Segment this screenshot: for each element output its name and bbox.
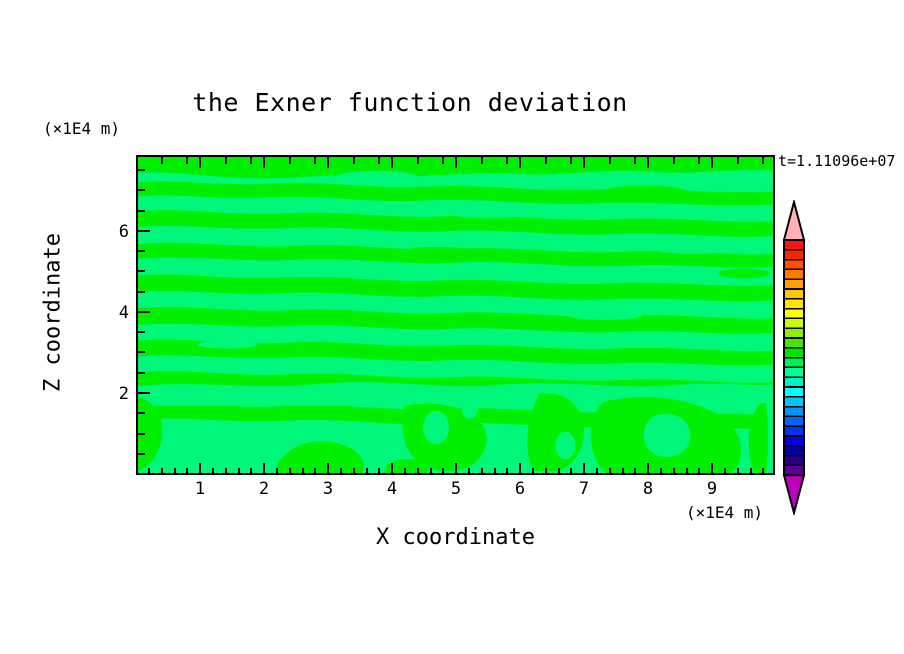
x-axis-minor-tick (238, 468, 240, 475)
y-axis-major-tick (138, 230, 150, 232)
colorbar-gradient (780, 200, 808, 515)
y-axis-minor-tick (138, 189, 145, 191)
y-tick-label: 2 (103, 384, 129, 404)
x-axis-top-minor-tick (289, 157, 291, 164)
x-axis-minor-tick (340, 468, 342, 475)
x-axis-top-major-tick (519, 157, 521, 168)
x-axis-minor-tick (289, 468, 291, 475)
x-tick-label: 4 (377, 479, 407, 499)
x-axis-minor-tick (225, 468, 227, 475)
x-axis-top-major-tick (263, 157, 265, 168)
y-tick-label: 6 (103, 222, 129, 242)
x-axis-minor-tick (430, 468, 432, 475)
x-axis-major-tick (391, 463, 393, 475)
x-axis-minor-tick (250, 468, 252, 475)
x-axis-top-minor-tick (481, 157, 483, 164)
y-axis-minor-tick (138, 270, 145, 272)
x-axis-top-minor-tick (186, 157, 188, 164)
x-axis-major-tick (647, 463, 649, 475)
x-axis-minor-tick (609, 468, 611, 475)
figure-canvas: the Exner function deviation (×1E4 m) (×… (0, 0, 904, 654)
y-axis-minor-tick (138, 412, 145, 414)
x-axis-minor-tick (174, 468, 176, 475)
x-axis-minor-tick (276, 468, 278, 475)
y-axis-title: Z coordinate (41, 198, 66, 428)
x-axis-top-minor-tick (506, 157, 508, 164)
x-axis-minor-tick (148, 468, 150, 475)
x-axis-minor-tick (506, 468, 508, 475)
y-axis-minor-tick (138, 372, 145, 374)
x-axis-major-tick (263, 463, 265, 475)
y-axis-major-tick (138, 311, 150, 313)
x-axis-top-minor-tick (570, 157, 572, 164)
x-axis-top-minor-tick (737, 157, 739, 164)
y-axis-minor-tick (138, 210, 145, 212)
time-annotation: t=1.11096e+07 (778, 152, 895, 170)
x-axis-top-minor-tick (161, 157, 163, 164)
x-axis-minor-tick (762, 468, 764, 475)
x-axis-top-minor-tick (417, 157, 419, 164)
colorbar-under-arrow (784, 475, 804, 513)
x-axis-top-minor-tick (762, 157, 764, 164)
x-axis-minor-tick (532, 468, 534, 475)
x-axis-top-major-tick (391, 157, 393, 168)
x-axis-minor-tick (442, 468, 444, 475)
x-axis-minor-tick (378, 468, 380, 475)
x-axis-minor-tick (161, 468, 163, 475)
x-axis-major-tick (711, 463, 713, 475)
contour-plot-area (136, 155, 775, 475)
x-axis-top-minor-tick (442, 157, 444, 164)
y-tick-label: 4 (103, 303, 129, 323)
y-axis-minor-tick (138, 331, 145, 333)
x-tick-label: 6 (505, 479, 535, 499)
y-axis-minor-tick (138, 250, 145, 252)
x-axis-minor-tick (481, 468, 483, 475)
x-axis-minor-tick (212, 468, 214, 475)
x-axis-minor-tick (545, 468, 547, 475)
colorbar-over-arrow (784, 202, 804, 240)
x-axis-minor-tick (570, 468, 572, 475)
contour-field (138, 157, 773, 473)
y-axis-minor-tick (138, 351, 145, 353)
x-axis-minor-tick (366, 468, 368, 475)
x-axis-minor-tick (686, 468, 688, 475)
x-axis-minor-tick (404, 468, 406, 475)
x-axis-major-tick (327, 463, 329, 475)
x-tick-label: 3 (313, 479, 343, 499)
colorbar: 9e−4 6e−4 3e−4 0 −3e−4 −6e−4 −9e−4 (780, 200, 808, 515)
x-axis-top-major-tick (327, 157, 329, 168)
x-axis-top-minor-tick (609, 157, 611, 164)
x-axis-minor-tick (622, 468, 624, 475)
x-tick-label: 9 (697, 479, 727, 499)
x-axis-title: X coordinate (136, 525, 775, 550)
x-axis-top-minor-tick (225, 157, 227, 164)
x-axis-top-minor-tick (545, 157, 547, 164)
x-axis-minor-tick (698, 468, 700, 475)
x-axis-major-tick (455, 463, 457, 475)
x-axis-top-major-tick (199, 157, 201, 168)
y-axis-unit-label: (×1E4 m) (43, 119, 120, 138)
x-axis-top-major-tick (647, 157, 649, 168)
x-axis-major-tick (199, 463, 201, 475)
x-axis-top-major-tick (583, 157, 585, 168)
page-title: the Exner function deviation (0, 88, 820, 117)
x-axis-top-minor-tick (250, 157, 252, 164)
x-tick-label: 2 (249, 479, 279, 499)
x-axis-top-minor-tick (378, 157, 380, 164)
x-axis-top-major-tick (711, 157, 713, 168)
y-axis-minor-tick (138, 453, 145, 455)
y-axis-minor-tick (138, 433, 145, 435)
x-tick-label: 1 (185, 479, 215, 499)
x-axis-major-tick (519, 463, 521, 475)
y-axis-minor-tick (138, 291, 145, 293)
x-axis-minor-tick (673, 468, 675, 475)
x-axis-top-minor-tick (353, 157, 355, 164)
x-axis-top-major-tick (455, 157, 457, 168)
x-tick-label: 7 (569, 479, 599, 499)
x-axis-minor-tick (737, 468, 739, 475)
x-axis-minor-tick (634, 468, 636, 475)
x-axis-minor-tick (417, 468, 419, 475)
x-tick-label: 8 (633, 479, 663, 499)
x-axis-top-minor-tick (673, 157, 675, 164)
x-axis-top-minor-tick (698, 157, 700, 164)
x-tick-label: 5 (441, 479, 471, 499)
x-axis-minor-tick (558, 468, 560, 475)
x-axis-minor-tick (314, 468, 316, 475)
x-axis-major-tick (583, 463, 585, 475)
y-axis-major-tick (138, 392, 150, 394)
x-axis-minor-tick (186, 468, 188, 475)
y-axis-minor-tick (138, 169, 145, 171)
x-axis-minor-tick (302, 468, 304, 475)
x-axis-top-minor-tick (314, 157, 316, 164)
x-axis-minor-tick (468, 468, 470, 475)
x-axis-top-minor-tick (634, 157, 636, 164)
x-axis-minor-tick (724, 468, 726, 475)
x-axis-unit-label: (×1E4 m) (686, 503, 763, 522)
x-axis-minor-tick (353, 468, 355, 475)
x-axis-minor-tick (750, 468, 752, 475)
x-axis-minor-tick (660, 468, 662, 475)
x-axis-minor-tick (494, 468, 496, 475)
x-axis-minor-tick (596, 468, 598, 475)
